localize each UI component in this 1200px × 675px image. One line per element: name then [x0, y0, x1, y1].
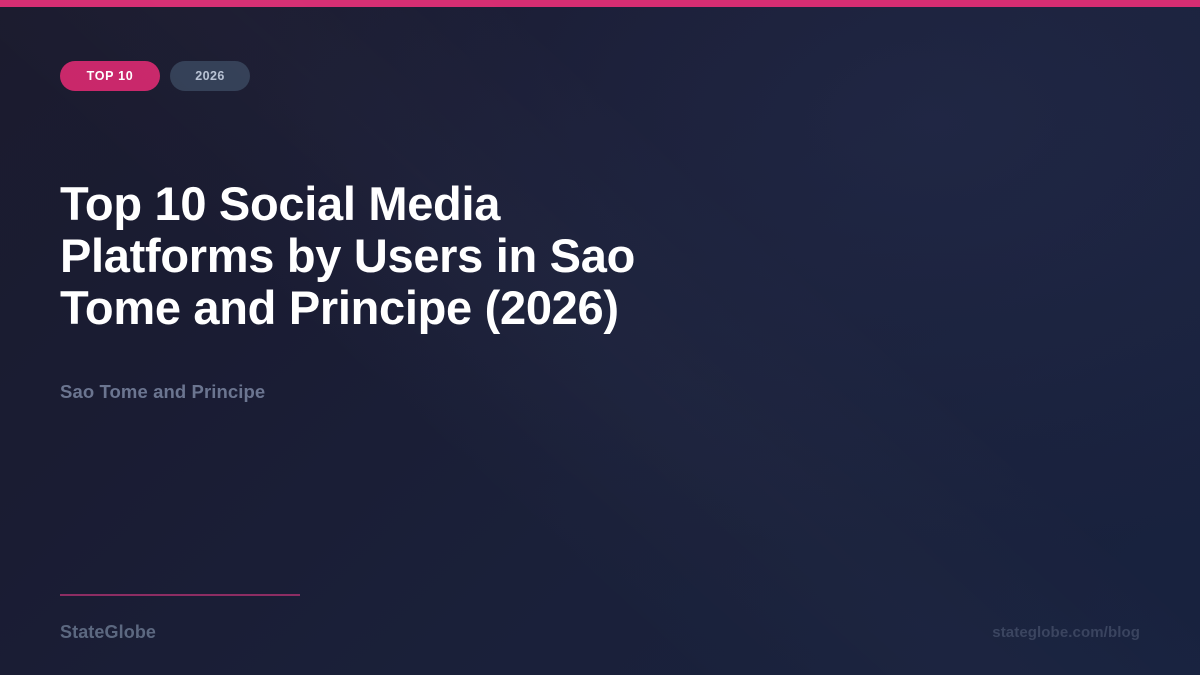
page-title: Top 10 Social Media Platforms by Users i…: [60, 178, 660, 334]
title-card: TOP 10 2026 Top 10 Social Media Platform…: [0, 0, 1200, 675]
footer-divider: [60, 594, 300, 596]
badge-year[interactable]: 2026: [170, 61, 250, 91]
badge-group: TOP 10 2026: [60, 61, 250, 91]
background-sheen: [0, 0, 1200, 675]
footer-brand: StateGlobe: [60, 622, 156, 643]
footer-url[interactable]: stateglobe.com/blog: [992, 624, 1140, 641]
badge-rank[interactable]: TOP 10: [60, 61, 160, 91]
subtitle-region: Sao Tome and Principe: [60, 381, 265, 403]
top-accent-bar: [0, 0, 1200, 7]
